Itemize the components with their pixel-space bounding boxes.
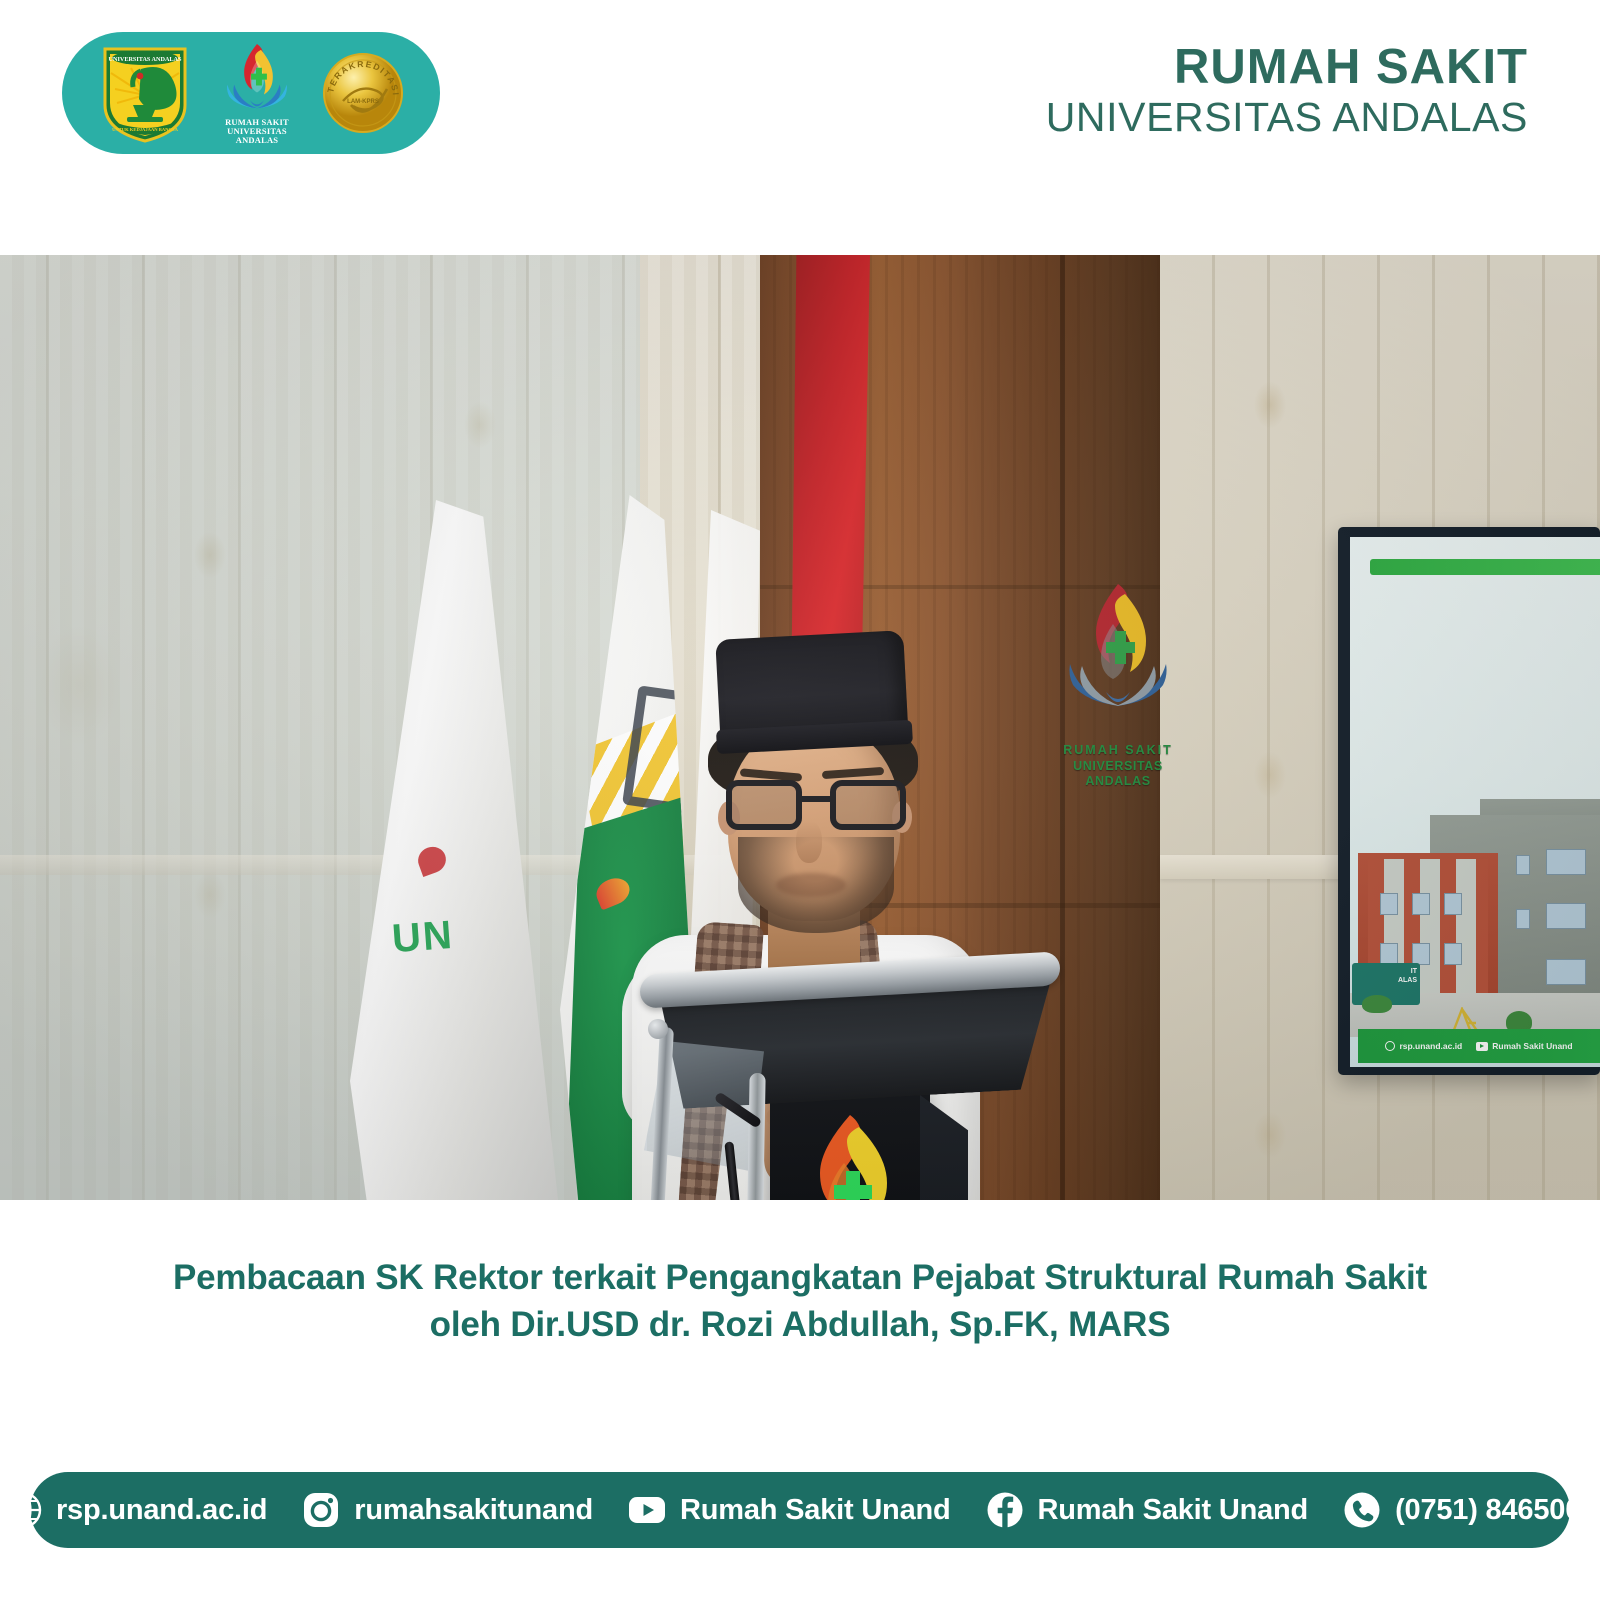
slide-sign-line1: IT bbox=[1411, 968, 1417, 975]
facebook-icon bbox=[985, 1490, 1025, 1530]
footer-instagram-label: rumahsakitunand bbox=[354, 1494, 593, 1527]
footer-item-facebook[interactable]: Rumah Sakit Unand bbox=[985, 1490, 1309, 1530]
podium-knob-top bbox=[648, 1019, 668, 1039]
header-title-line1: RUMAH SAKIT bbox=[1046, 42, 1528, 93]
caption-line-2: oleh Dir.USD dr. Rozi Abdullah, Sp.FK, M… bbox=[0, 1302, 1600, 1349]
rumah-sakit-flame-logo-icon: RUMAH SAKIT UNIVERSITAS ANDALAS bbox=[213, 41, 301, 145]
slide-footer-website: rsp.unand.ac.id bbox=[1399, 1041, 1462, 1051]
footer-item-youtube[interactable]: Rumah Sakit Unand bbox=[627, 1490, 951, 1530]
display-screen-content: IT ALAS rsp.unand.ac.id Rumah Sakit Unan… bbox=[1350, 537, 1600, 1067]
wall-mounted-hospital-logo: RUMAH SAKIT UNIVERSITAS ANDALAS bbox=[1058, 580, 1178, 790]
slide-green-bar bbox=[1370, 559, 1600, 575]
footer-item-website[interactable]: rsp.unand.ac.id bbox=[3, 1490, 267, 1530]
wall-display-screen: IT ALAS rsp.unand.ac.id Rumah Sakit Unan… bbox=[1338, 527, 1600, 1075]
slide-footer-website-item: rsp.unand.ac.id bbox=[1385, 1041, 1462, 1051]
universitas-andalas-crest-icon: UNIVERSITAS ANDALAS UNTUK KEDJAJAAN BANG… bbox=[97, 43, 193, 143]
footer-facebook-label: Rumah Sakit Unand bbox=[1038, 1494, 1309, 1527]
phone-icon bbox=[1342, 1490, 1382, 1530]
instagram-icon bbox=[301, 1490, 341, 1530]
logo-pill: UNIVERSITAS ANDALAS UNTUK KEDJAJAAN BANG… bbox=[62, 32, 440, 154]
footer-website-label: rsp.unand.ac.id bbox=[56, 1494, 267, 1527]
accreditation-mark-text: LAM-KPRS bbox=[347, 99, 379, 105]
event-photo: UN RUMAH SAKIT UNIVERSITAS ANDALAS bbox=[0, 255, 1600, 1200]
wall-logo-line2: UNIVERSITAS ANDALAS bbox=[1052, 759, 1184, 790]
globe-icon bbox=[3, 1490, 43, 1530]
header-title-line2: UNIVERSITAS ANDALAS bbox=[1046, 95, 1528, 140]
speaking-podium: RUMAH SAKIT UNIVERSITAS ANDALAS bbox=[620, 945, 1080, 1200]
slide-bush-2 bbox=[1362, 995, 1392, 1013]
footer-phone-label: (0751) 8465000 bbox=[1395, 1494, 1597, 1527]
podium-hospital-logo: RUMAH SAKIT UNIVERSITAS ANDALAS bbox=[770, 1111, 930, 1200]
header-title: RUMAH SAKIT UNIVERSITAS ANDALAS bbox=[1046, 42, 1528, 140]
photo-caption: Pembacaan SK Rektor terkait Pengangkatan… bbox=[0, 1255, 1600, 1349]
speaker-songkok-cap bbox=[715, 630, 908, 750]
youtube-icon bbox=[1476, 1042, 1488, 1051]
rumah-sakit-logo-line2: UNIVERSITAS ANDALAS bbox=[213, 127, 301, 145]
svg-text:UNIVERSITAS ANDALAS: UNIVERSITAS ANDALAS bbox=[109, 56, 183, 63]
flag-left-text: UN bbox=[391, 913, 456, 962]
slide-sign-line2: ALAS bbox=[1398, 977, 1417, 984]
podium-rail-left bbox=[640, 1027, 674, 1200]
slide-footer-youtube-item: Rumah Sakit Unand bbox=[1476, 1041, 1572, 1051]
footer-item-phone[interactable]: (0751) 8465000 bbox=[1342, 1490, 1597, 1530]
slide-footer-youtube: Rumah Sakit Unand bbox=[1492, 1041, 1572, 1051]
speaker-mouth-shadow bbox=[776, 873, 846, 897]
wall-cool-tint bbox=[0, 255, 640, 1200]
globe-icon bbox=[1385, 1041, 1395, 1051]
footer-item-instagram[interactable]: rumahsakitunand bbox=[301, 1490, 593, 1530]
contact-footer-bar: rsp.unand.ac.id rumahsakitunand Rumah Sa… bbox=[30, 1472, 1570, 1548]
svg-text:UNTUK KEDJAJAAN BANGSA: UNTUK KEDJAJAAN BANGSA bbox=[112, 127, 179, 132]
terakreditasi-badge-icon: TERAKREDITASI LAM-KPRS bbox=[321, 51, 405, 135]
wall-logo-line1: RUMAH SAKIT bbox=[1052, 743, 1184, 759]
rumah-sakit-logo-caption: RUMAH SAKIT UNIVERSITAS ANDALAS bbox=[213, 118, 301, 145]
caption-line-1: Pembacaan SK Rektor terkait Pengangkatan… bbox=[0, 1255, 1600, 1302]
youtube-icon bbox=[627, 1490, 667, 1530]
page-header: UNIVERSITAS ANDALAS UNTUK KEDJAJAAN BANG… bbox=[0, 0, 1600, 230]
wall-logo-caption: RUMAH SAKIT UNIVERSITAS ANDALAS bbox=[1052, 743, 1184, 790]
slide-footer-bar: rsp.unand.ac.id Rumah Sakit Unand bbox=[1358, 1029, 1600, 1063]
footer-youtube-label: Rumah Sakit Unand bbox=[680, 1494, 951, 1527]
